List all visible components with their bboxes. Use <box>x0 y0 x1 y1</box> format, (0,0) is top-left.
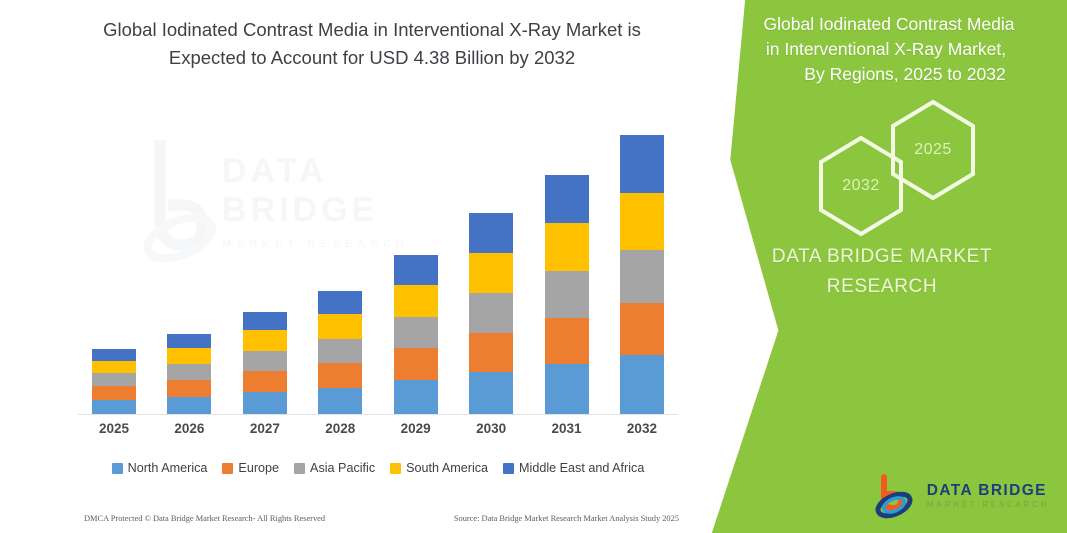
stacked-bar <box>469 213 513 415</box>
bar-segment <box>92 400 136 415</box>
bar-segment <box>620 193 664 250</box>
x-axis-tick: 2031 <box>545 421 589 441</box>
x-axis-tick: 2028 <box>318 421 362 441</box>
bar-segment <box>394 285 438 317</box>
panel-title-line-3: By Regions, 2025 to 2032 <box>715 62 1053 87</box>
bar-segment <box>318 314 362 339</box>
panel-title-line-1: Global Iodinated Contrast Media <box>715 12 1053 37</box>
logo-name-line-2: MARKET RESEARCH <box>927 501 1049 510</box>
bar-segment <box>318 388 362 415</box>
bar-segment <box>545 318 589 364</box>
bar-segment <box>167 364 211 380</box>
chart-area: Global Iodinated Contrast Media in Inter… <box>0 0 712 533</box>
legend-item[interactable]: Middle East and Africa <box>503 461 644 475</box>
hexagon-2025-label: 2025 <box>887 98 979 202</box>
bar-segment <box>469 253 513 293</box>
bar-segment <box>469 293 513 333</box>
bar-segment <box>92 386 136 400</box>
bar-segment <box>394 317 438 348</box>
panel-brand-text: DATA BRIDGE MARKET RESEARCH <box>697 242 1067 302</box>
chart-legend: North AmericaEuropeAsia PacificSouth Ame… <box>78 461 678 475</box>
legend-label: Europe <box>238 461 279 475</box>
page-title: Global Iodinated Contrast Media in Inter… <box>92 16 652 72</box>
footer: DMCA Protected © Data Bridge Market Rese… <box>84 514 679 523</box>
bar-column <box>318 291 362 415</box>
bar-segment <box>92 349 136 361</box>
bar-segment <box>167 397 211 415</box>
footer-source: Source: Data Bridge Market Research Mark… <box>454 514 679 523</box>
legend-item[interactable]: South America <box>390 461 488 475</box>
bar-column <box>545 175 589 415</box>
chart-title-line-1: Global Iodinated Contrast Media in Inter… <box>103 19 561 40</box>
x-axis-tick: 2029 <box>394 421 438 441</box>
bar-segment <box>167 334 211 348</box>
plot-area <box>78 115 678 415</box>
bar-segment <box>545 175 589 223</box>
stacked-bar <box>394 255 438 415</box>
bar-group <box>78 115 678 415</box>
hexagon-group: 2032 2025 <box>697 112 1067 217</box>
stacked-bar <box>167 334 211 415</box>
bar-column <box>243 312 287 415</box>
bar-segment <box>620 135 664 193</box>
bar-segment <box>167 348 211 364</box>
x-axis-tick: 2025 <box>92 421 136 441</box>
stacked-bar <box>318 291 362 415</box>
bar-segment <box>620 355 664 415</box>
company-logo: DATA BRIDGE MARKET RESEARCH <box>872 473 1049 519</box>
legend-label: Middle East and Africa <box>519 461 644 475</box>
data-bridge-logo-icon <box>872 473 918 519</box>
legend-label: North America <box>128 461 208 475</box>
legend-swatch <box>112 463 123 474</box>
bar-segment <box>318 363 362 388</box>
bar-segment <box>545 271 589 318</box>
bar-segment <box>545 223 589 271</box>
bar-segment <box>167 380 211 397</box>
bar-segment <box>620 303 664 355</box>
legend-item[interactable]: North America <box>112 461 208 475</box>
legend-label: Asia Pacific <box>310 461 375 475</box>
legend-swatch <box>222 463 233 474</box>
bar-segment <box>243 351 287 371</box>
bar-column <box>620 135 664 415</box>
bar-segment <box>318 291 362 314</box>
stacked-bar <box>545 175 589 415</box>
bar-segment <box>243 392 287 415</box>
bar-segment <box>318 339 362 363</box>
bar-column <box>92 349 136 415</box>
panel-brand-line-1: DATA BRIDGE MARKET <box>772 246 992 267</box>
logo-wordmark: DATA BRIDGE MARKET RESEARCH <box>927 483 1049 510</box>
stacked-bar <box>243 312 287 415</box>
bar-segment <box>469 372 513 415</box>
bar-segment <box>243 371 287 392</box>
x-axis-tick: 2030 <box>469 421 513 441</box>
bar-segment <box>394 255 438 285</box>
right-green-panel: Global Iodinated Contrast Media in Inter… <box>697 0 1067 533</box>
legend-swatch <box>503 463 514 474</box>
legend-label: South America <box>406 461 488 475</box>
bar-column <box>469 213 513 415</box>
bar-segment <box>394 348 438 380</box>
bar-segment <box>620 250 664 303</box>
bar-segment <box>469 333 513 372</box>
footer-copyright: DMCA Protected © Data Bridge Market Rese… <box>84 514 325 523</box>
bar-column <box>394 255 438 415</box>
hexagon-2025: 2025 <box>887 98 979 202</box>
legend-swatch <box>294 463 305 474</box>
legend-swatch <box>390 463 401 474</box>
legend-item[interactable]: Asia Pacific <box>294 461 375 475</box>
x-axis-tick: 2027 <box>243 421 287 441</box>
bar-segment <box>469 213 513 253</box>
bar-segment <box>394 380 438 415</box>
x-axis-tick: 2032 <box>620 421 664 441</box>
panel-title: Global Iodinated Contrast Media in Inter… <box>715 12 1053 87</box>
stacked-bar <box>92 349 136 415</box>
axis-baseline <box>78 414 678 415</box>
legend-item[interactable]: Europe <box>222 461 279 475</box>
x-axis-labels: 20252026202720282029203020312032 <box>78 421 678 441</box>
bar-segment <box>545 364 589 415</box>
bar-segment <box>243 312 287 330</box>
x-axis-tick: 2026 <box>167 421 211 441</box>
bar-segment <box>92 373 136 386</box>
bar-segment <box>243 330 287 351</box>
logo-name-line-1: DATA BRIDGE <box>927 483 1049 499</box>
panel-brand-line-2: RESEARCH <box>697 272 1067 302</box>
infographic-root: Global Iodinated Contrast Media in Inter… <box>0 0 1067 533</box>
bar-segment <box>92 361 136 373</box>
bar-column <box>167 334 211 415</box>
stacked-bar <box>620 135 664 415</box>
panel-title-line-2: in Interventional X-Ray Market, <box>715 37 1053 62</box>
